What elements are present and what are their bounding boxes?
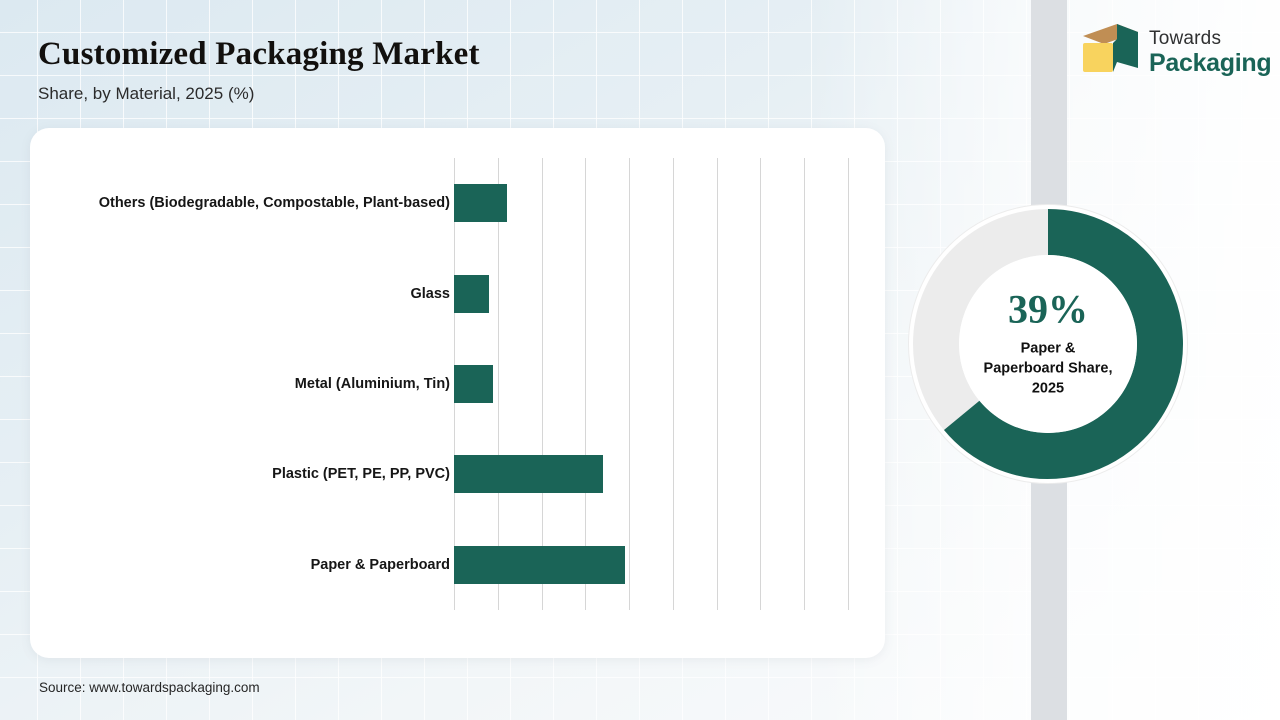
page-subtitle: Share, by Material, 2025 (%): [38, 84, 658, 104]
logo-word-towards: Towards: [1149, 29, 1271, 48]
source-note: Source: www.towardspackaging.com: [39, 680, 260, 695]
header: Customized Packaging Market Share, by Ma…: [38, 36, 658, 104]
page-title: Customized Packaging Market: [38, 36, 658, 72]
bar-row: Plastic (PET, PE, PP, PVC): [454, 429, 848, 519]
bar-row: Metal (Aluminium, Tin): [454, 339, 848, 429]
bar-category-label: Others (Biodegradable, Compostable, Plan…: [50, 192, 450, 214]
logo-word-packaging: Packaging: [1149, 51, 1271, 76]
bar-category-label: Metal (Aluminium, Tin): [50, 373, 450, 395]
donut-caption-line-3: 2025: [953, 379, 1143, 399]
bar[interactable]: [454, 546, 625, 584]
bar-chart-plot-area: Others (Biodegradable, Compostable, Plan…: [454, 158, 848, 610]
packaging-box-icon: [1077, 22, 1139, 83]
bar[interactable]: [454, 365, 493, 403]
donut-caption-line-1: Paper &: [953, 339, 1143, 359]
bar[interactable]: [454, 184, 507, 222]
bar-category-label: Paper & Paperboard: [50, 554, 450, 576]
donut-chart: 39% Paper & Paperboard Share, 2025: [908, 204, 1188, 484]
bar-row: Others (Biodegradable, Compostable, Plan…: [454, 158, 848, 248]
bar-category-label: Glass: [50, 282, 450, 304]
bar-row: Paper & Paperboard: [454, 520, 848, 610]
gridline: [848, 158, 849, 610]
donut-caption: Paper & Paperboard Share, 2025: [953, 339, 1143, 399]
bar-category-label: Plastic (PET, PE, PP, PVC): [50, 463, 450, 485]
logo-text: Towards Packaging: [1149, 29, 1271, 76]
bar[interactable]: [454, 275, 489, 313]
brand-logo[interactable]: Towards Packaging: [1077, 22, 1271, 83]
donut-center-label: 39% Paper & Paperboard Share, 2025: [953, 290, 1143, 399]
bar-row: Glass: [454, 248, 848, 338]
bar[interactable]: [454, 455, 603, 493]
donut-caption-line-2: Paperboard Share,: [953, 359, 1143, 379]
donut-percent-value: 39%: [953, 290, 1143, 330]
bar-chart-card: Others (Biodegradable, Compostable, Plan…: [30, 128, 885, 658]
